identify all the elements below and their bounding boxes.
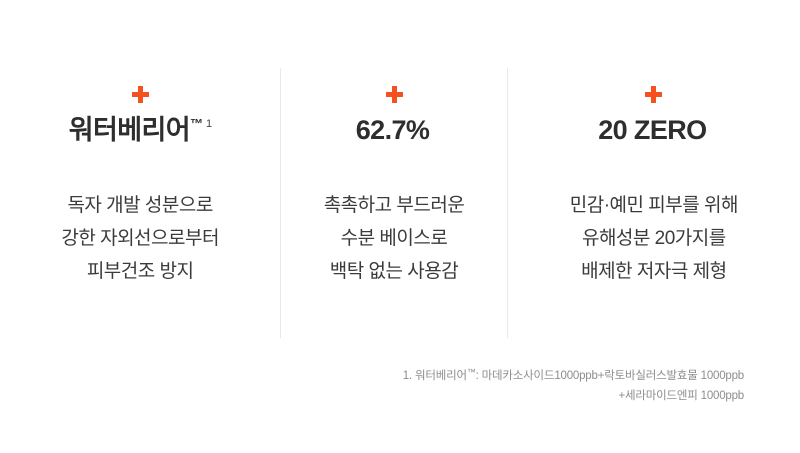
benefit-description: 촉촉하고 부드러운 수분 베이스로 백탁 없는 사용감: [281, 189, 506, 288]
benefit-title: 워터베리어™1: [0, 115, 280, 146]
benefit-description-line: 피부건조 방지: [0, 255, 280, 288]
footnote-block: 1. 워터베리어™: 마데카소사이드1000ppb+락토바실러스발효물 1000…: [403, 362, 744, 406]
benefit-columns: 워터베리어™1 독자 개발 성분으로 강한 자외선으로부터 피부건조 방지 62…: [0, 68, 800, 338]
benefit-title-text: 20 ZERO: [598, 115, 706, 145]
benefit-description-line: 백탁 없는 사용감: [281, 255, 506, 288]
benefit-column-20-zero: 20 ZERO 민감·예민 피부를 위해 유해성분 20가지를 배제한 저자극 …: [508, 68, 800, 288]
footnote-line-1-prefix: 1. 워터베리어: [403, 370, 467, 382]
benefit-description-line: 유해성분 20가지를: [508, 222, 800, 255]
footnote-marker: 1: [206, 118, 212, 130]
benefit-title-text: 62.7%: [356, 115, 430, 145]
trademark-symbol: ™: [190, 116, 203, 131]
benefit-description-line: 배제한 저자극 제형: [508, 255, 800, 288]
benefit-title: 20 ZERO: [508, 115, 800, 146]
benefit-title: 62.7%: [281, 115, 506, 146]
footnote-line-1-rest: : 마데카소사이드1000ppb+락토바실러스발효물 1000ppb: [476, 370, 744, 382]
benefit-description-line: 촉촉하고 부드러운: [281, 189, 506, 222]
benefit-description-line: 수분 베이스로: [281, 222, 506, 255]
footnote-line-2: +세라마이드엔피 1000ppb: [403, 386, 744, 406]
plus-icon: [386, 86, 403, 103]
trademark-symbol: ™: [467, 367, 476, 377]
plus-icon: [645, 86, 662, 103]
benefit-description-line: 독자 개발 성분으로: [0, 189, 280, 222]
benefit-column-moisture: 62.7% 촉촉하고 부드러운 수분 베이스로 백탁 없는 사용감: [281, 68, 506, 288]
benefit-description-line: 강한 자외선으로부터: [0, 222, 280, 255]
benefit-description: 독자 개발 성분으로 강한 자외선으로부터 피부건조 방지: [0, 189, 280, 288]
footnote-line-1: 1. 워터베리어™: 마데카소사이드1000ppb+락토바실러스발효물 1000…: [403, 362, 744, 386]
product-benefits-panel: 워터베리어™1 독자 개발 성분으로 강한 자외선으로부터 피부건조 방지 62…: [0, 0, 800, 453]
benefit-description-line: 민감·예민 피부를 위해: [508, 189, 800, 222]
benefit-title-text: 워터베리어: [69, 115, 190, 145]
benefit-column-water-barrier: 워터베리어™1 독자 개발 성분으로 강한 자외선으로부터 피부건조 방지: [0, 68, 280, 288]
plus-icon: [132, 86, 149, 103]
benefit-description: 민감·예민 피부를 위해 유해성분 20가지를 배제한 저자극 제형: [508, 189, 800, 288]
